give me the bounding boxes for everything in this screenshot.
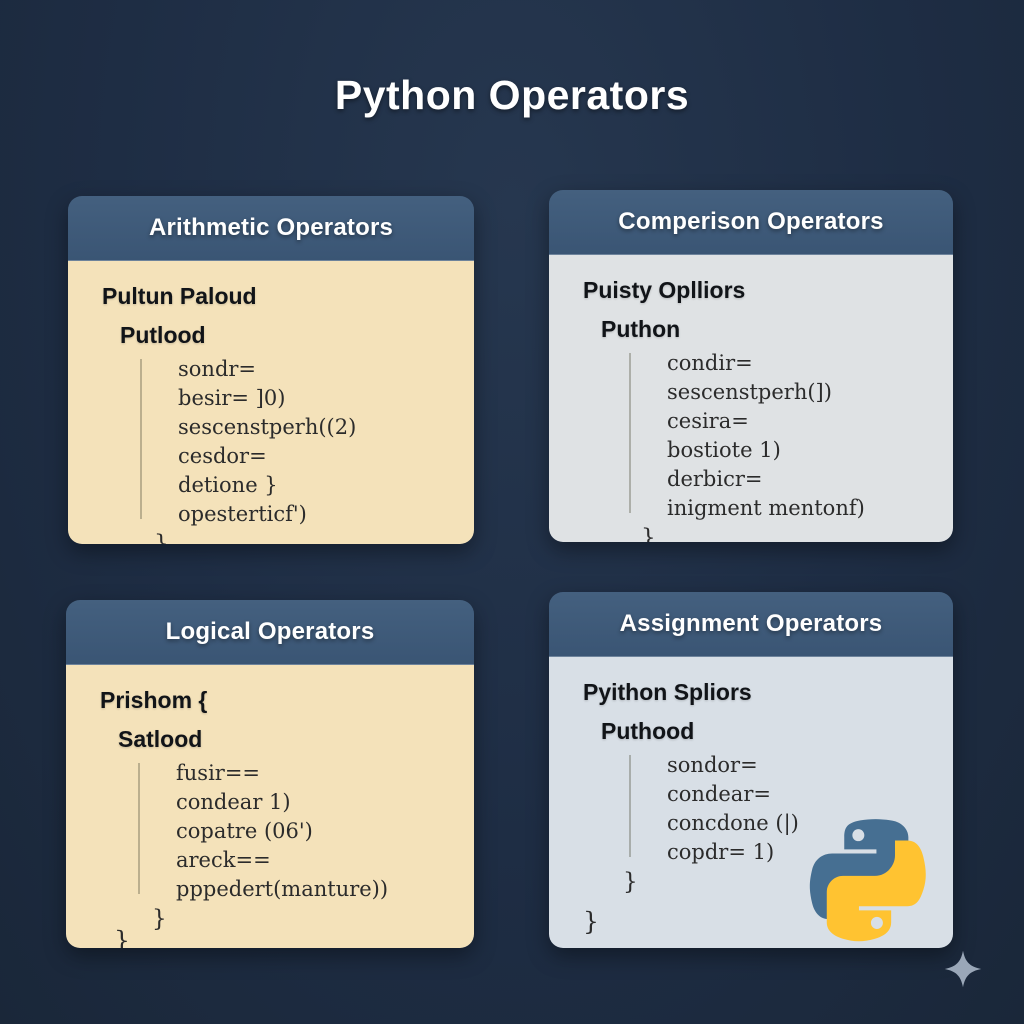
card-header: Comperison Operators [549,190,953,255]
indent-guide [629,353,631,513]
card-body: Pyithon Spliors Puthood sondor= condear=… [549,657,953,948]
code-line: opesterticf') [178,500,456,529]
code-line: derbicr= [667,465,935,494]
page-title: Python Operators [0,72,1024,119]
card-header: Assignment Operators [549,592,953,657]
code-line: areck== [176,846,456,875]
card-subtitle-secondary: Puthon [601,316,935,343]
card-title: Arithmetic Operators [149,214,393,242]
card-header: Logical Operators [66,600,474,665]
code-block: fusir== condear 1) copatre (06') areck==… [138,759,456,904]
poster-canvas: Python Operators Arithmetic Operators Pu… [0,0,1024,1024]
card-title: Logical Operators [166,618,375,646]
card-comparison-operators[interactable]: Comperison Operators Puisty Oplliors Put… [549,190,953,542]
code-block: condir= sescenstperh(]) cesira= bostiote… [629,349,935,523]
code-line: sondor= [667,751,935,780]
card-arithmetic-operators[interactable]: Arithmetic Operators Pultun Paloud Putlo… [68,196,474,544]
card-subtitle-secondary: Putlood [120,322,456,349]
sparkle-icon [944,950,982,988]
code-line: detione } [178,471,456,500]
card-logical-operators[interactable]: Logical Operators Prishom { Satlood fusi… [66,600,474,948]
card-title: Comperison Operators [618,208,883,236]
closing-brace-inner: } [641,525,935,542]
code-line: fusir== [176,759,456,788]
code-line: condear 1) [176,788,456,817]
code-line: pppedert(manture)) [176,875,456,904]
card-subtitle-secondary: Satlood [118,726,456,753]
code-line: besir= ]0) [178,384,456,413]
card-subtitle: Puisty Oplliors [583,277,935,304]
python-logo-icon [799,805,939,945]
card-subtitle: Pyithon Spliors [583,679,935,706]
code-line: sescenstperh((2) [178,413,456,442]
code-line: sondr= [178,355,456,384]
card-subtitle: Pultun Paloud [102,283,456,310]
code-line: copatre (06') [176,817,456,846]
code-line: condir= [667,349,935,378]
code-line: bostiote 1) [667,436,935,465]
indent-guide [629,755,631,857]
card-body: Prishom { Satlood fusir== condear 1) cop… [66,665,474,948]
closing-brace-inner: } [154,531,456,544]
card-body: Pultun Paloud Putlood sondr= besir= ]0) … [68,261,474,544]
code-line: cesira= [667,407,935,436]
indent-guide [140,359,142,519]
card-body: Puisty Oplliors Puthon condir= sescenstp… [549,255,953,542]
card-subtitle-secondary: Puthood [601,718,935,745]
code-line: inigment mentonf) [667,494,935,523]
card-title: Assignment Operators [620,610,883,638]
card-assignment-operators[interactable]: Assignment Operators Pyithon Spliors Put… [549,592,953,948]
code-line: cesdor= [178,442,456,471]
card-header: Arithmetic Operators [68,196,474,261]
card-subtitle: Prishom { [100,687,456,714]
code-block: sondr= besir= ]0) sescenstperh((2) cesdo… [140,355,456,529]
code-line: sescenstperh(]) [667,378,935,407]
indent-guide [138,763,140,894]
